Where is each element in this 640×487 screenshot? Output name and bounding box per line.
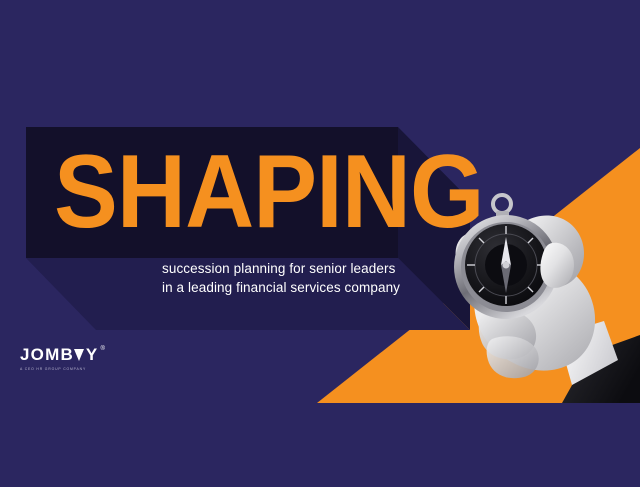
logo-text-after-mark: Y bbox=[86, 345, 99, 364]
compass-needle-pivot bbox=[503, 262, 510, 269]
slide-subtitle: succession planning for senior leaders i… bbox=[162, 259, 462, 297]
logo-tagline: A CEO HR GROUP COMPANY bbox=[20, 366, 130, 372]
subtitle-line-2: in a leading financial services company bbox=[162, 278, 462, 297]
compass-ring bbox=[493, 195, 511, 213]
page-title: SHAPING bbox=[54, 128, 358, 256]
registered-trademark-symbol: ® bbox=[100, 340, 106, 359]
presentation-slide: SHAPING succession planning for senior l… bbox=[0, 0, 640, 487]
jombay-logo: JOMB Y ® A CEO HR GROUP COMPANY bbox=[20, 345, 130, 372]
logo-text-before-mark: JOMB bbox=[20, 345, 74, 364]
logo-wordmark: JOMB Y ® bbox=[20, 345, 130, 364]
logo-triangle-a-icon bbox=[74, 348, 85, 361]
hand-holding-compass-image bbox=[440, 185, 640, 403]
subtitle-line-1: succession planning for senior leaders bbox=[162, 259, 462, 278]
